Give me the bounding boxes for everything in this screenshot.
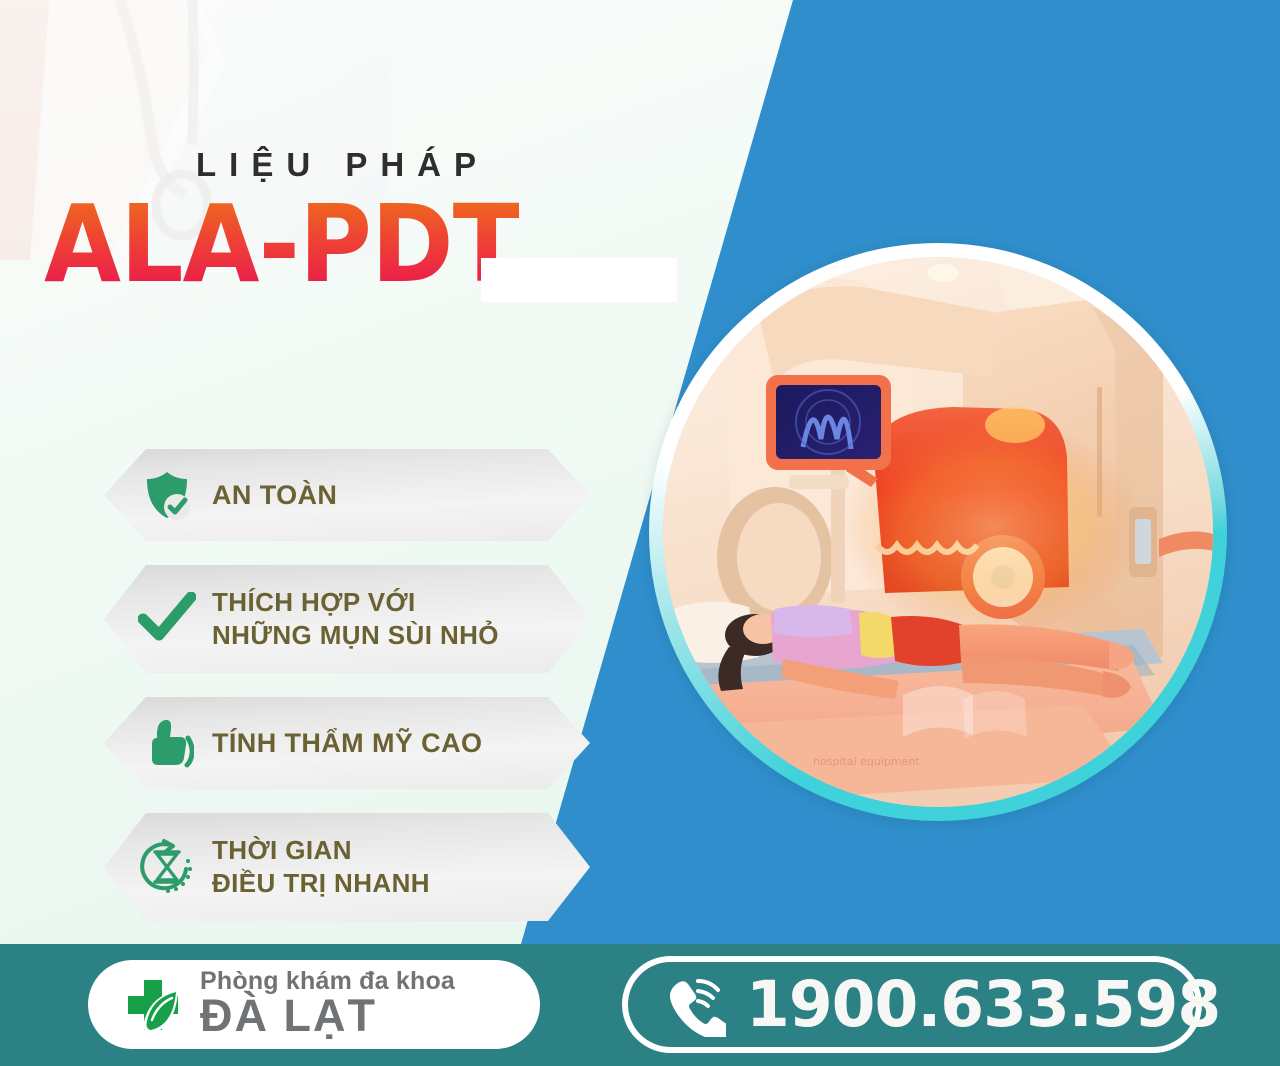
hotline-number: 1900.633.598 <box>746 973 1220 1036</box>
shield-check-icon <box>134 462 200 528</box>
feature-label: AN TOÀN <box>212 478 337 513</box>
svg-text:hospital equipment: hospital equipment <box>813 755 920 768</box>
feature-label: THỜI GIAN ĐIỀU TRỊ NHANH <box>212 834 430 901</box>
green-cross-leaf-icon <box>120 972 186 1038</box>
feature-badge-tham-my[interactable]: TÍNH THẨM MỸ CAO <box>104 697 590 789</box>
title-blank-patch <box>481 258 677 302</box>
clinic-name: ĐÀ LẠT <box>200 993 455 1039</box>
feature-list: AN TOÀN THÍCH HỢP VỚI NHỮNG MỤN SÙI NHỎ … <box>104 449 590 945</box>
headline-block: LIỆU PHÁP ALA-PDT <box>44 148 555 297</box>
treatment-photo: hospital equipment <box>663 257 1213 807</box>
feature-label: TÍNH THẨM MỸ CAO <box>212 726 482 761</box>
hotline-button[interactable]: 1900.633.598 <box>622 956 1202 1053</box>
feature-badge-thich-hop[interactable]: THÍCH HỢP VỚI NHỮNG MỤN SÙI NHỎ <box>104 565 590 673</box>
footer-bar: Phòng khám đa khoa ĐÀ LẠT 1900.633.598 <box>0 944 1280 1066</box>
phone-call-icon <box>662 973 726 1037</box>
feature-badge-an-toan[interactable]: AN TOÀN <box>104 449 590 541</box>
checkmark-icon <box>134 586 200 652</box>
feature-label: THÍCH HỢP VỚI NHỮNG MỤN SÙI NHỎ <box>212 586 499 653</box>
treatment-photo-ring: hospital equipment <box>649 243 1227 821</box>
thumbs-up-icon <box>134 710 200 776</box>
page-title: ALA-PDT <box>44 195 520 297</box>
clinic-logo-pill[interactable]: Phòng khám đa khoa ĐÀ LẠT <box>88 960 540 1049</box>
hourglass-clock-icon <box>134 834 200 900</box>
promo-banner: hospital equipment <box>0 0 1280 1066</box>
feature-badge-thoi-gian[interactable]: THỜI GIAN ĐIỀU TRỊ NHANH <box>104 813 590 921</box>
headline-kicker: LIỆU PHÁP <box>196 148 555 181</box>
